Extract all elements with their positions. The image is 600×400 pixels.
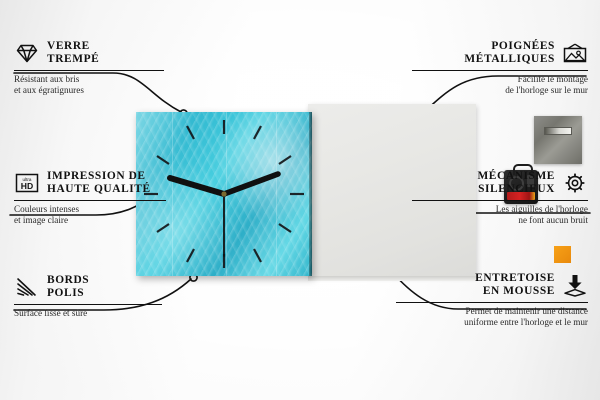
feature-header: BORDS POLIS bbox=[14, 274, 162, 301]
polished-edges-icon bbox=[14, 275, 40, 299]
feature-poignees-metalliques: POIGNÉES MÉTALLIQUES Facilite le montage… bbox=[412, 40, 588, 96]
feature-subtitle-line1: Permet de maintenir une distance bbox=[396, 306, 588, 317]
foam-spacer-part bbox=[554, 246, 571, 263]
feature-title-line2: MÉTALLIQUES bbox=[464, 53, 555, 66]
feature-title-line2: SILENCIEUX bbox=[477, 183, 555, 196]
feature-verre-trempe: VERRE TREMPÉ Résistant aux bris et aux é… bbox=[14, 40, 164, 96]
feature-subtitle-line2: et image claire bbox=[14, 215, 166, 226]
feature-subtitle-line2: et aux égratignures bbox=[14, 85, 164, 96]
feature-title-line1: VERRE bbox=[47, 40, 99, 53]
feature-impression-hd: ultra HD IMPRESSION DE HAUTE QUALITÉ Cou… bbox=[14, 170, 166, 226]
feature-divider bbox=[14, 70, 164, 71]
diamond-icon bbox=[14, 41, 40, 65]
feature-divider bbox=[412, 200, 588, 201]
wall-hanger-icon bbox=[562, 41, 588, 65]
feature-entretoise-en-mousse: ENTRETOISE EN MOUSSE Permet de maintenir… bbox=[396, 272, 588, 328]
feature-title-line1: MÉCANISME bbox=[477, 170, 555, 183]
feature-header: MÉCANISME SILENCIEUX bbox=[412, 170, 588, 197]
foam-spacer-icon bbox=[562, 273, 588, 297]
feature-title-line2: TREMPÉ bbox=[47, 53, 99, 66]
feature-subtitle-line1: Surface lisse et sûre bbox=[14, 308, 162, 319]
metal-hanger-part bbox=[534, 116, 582, 164]
hanger-slot bbox=[544, 127, 572, 135]
feature-header: ENTRETOISE EN MOUSSE bbox=[396, 272, 588, 299]
feature-mecanisme-silencieux: MÉCANISME SILENCIEUX bbox=[412, 170, 588, 226]
feature-title-line1: IMPRESSION DE bbox=[47, 170, 151, 183]
feature-title-line1: ENTRETOISE bbox=[475, 272, 555, 285]
feature-subtitle-line1: Résistant aux bris bbox=[14, 74, 164, 85]
feature-subtitle-line1: Couleurs intenses bbox=[14, 204, 166, 215]
feature-title-line1: BORDS bbox=[47, 274, 89, 287]
feature-divider bbox=[14, 200, 166, 201]
feature-subtitle-line2: uniforme entre l'horloge et le mur bbox=[396, 317, 588, 328]
feature-bords-polis: BORDS POLIS Surface lisse et sûre bbox=[14, 274, 162, 319]
gear-icon bbox=[562, 171, 588, 195]
feature-divider bbox=[14, 304, 162, 305]
feature-header: POIGNÉES MÉTALLIQUES bbox=[412, 40, 588, 67]
feature-subtitle-line2: ne font aucun bruit bbox=[412, 215, 588, 226]
feature-subtitle-line2: de l'horloge sur le mur bbox=[412, 85, 588, 96]
infographic-canvas: VERRE TREMPÉ Résistant aux bris et aux é… bbox=[0, 0, 600, 400]
feature-header: ultra HD IMPRESSION DE HAUTE QUALITÉ bbox=[14, 170, 166, 197]
ultra-hd-icon-large-label: HD bbox=[21, 182, 33, 192]
feature-divider bbox=[412, 70, 588, 71]
feature-title-line2: HAUTE QUALITÉ bbox=[47, 183, 151, 196]
feature-divider bbox=[396, 302, 588, 303]
feature-header: VERRE TREMPÉ bbox=[14, 40, 164, 67]
feature-subtitle-line1: Facilite le montage bbox=[412, 74, 588, 85]
feature-title-line1: POIGNÉES bbox=[464, 40, 555, 53]
feature-subtitle-line1: Les aiguilles de l'horloge bbox=[412, 204, 588, 215]
ultra-hd-icon: ultra HD bbox=[14, 171, 40, 195]
feature-title-line2: EN MOUSSE bbox=[475, 285, 555, 298]
feature-title-line2: POLIS bbox=[47, 287, 89, 300]
